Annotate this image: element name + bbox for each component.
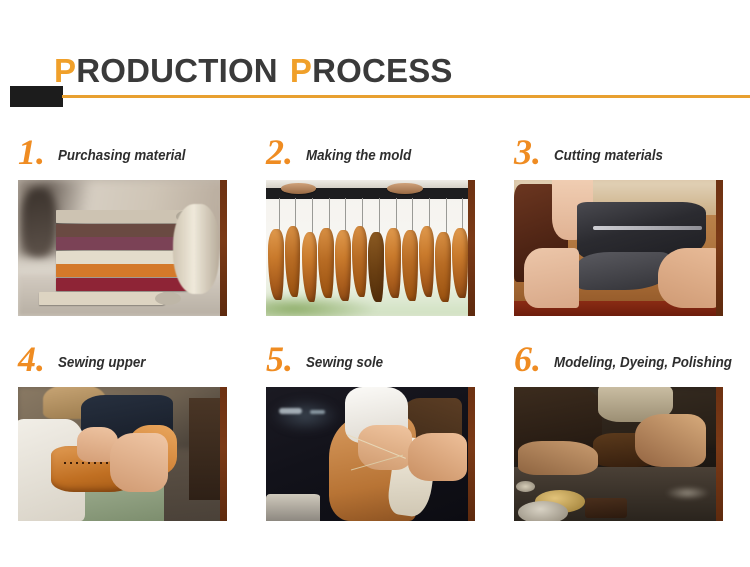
photo-art-2 xyxy=(266,180,475,316)
photo-art-1 xyxy=(18,180,227,316)
step-header-6: 6. Modeling, Dyeing, Polishing xyxy=(514,345,746,387)
photo-edge-6 xyxy=(716,387,723,521)
production-steps-grid: 1. Purchasing material 2. Making the mol… xyxy=(0,0,750,567)
step-number-2: 2. xyxy=(266,134,293,170)
step-label-1: Purchasing material xyxy=(58,148,186,164)
step-header-5: 5. Sewing sole xyxy=(266,345,498,387)
photo-edge-5 xyxy=(468,387,475,521)
photo-edge-4 xyxy=(220,387,227,521)
step-number-4: 4. xyxy=(18,341,45,377)
step-label-6: Modeling, Dyeing, Polishing xyxy=(554,355,732,371)
photo-art-5 xyxy=(266,387,475,521)
step-card-4: 4. Sewing upper xyxy=(18,345,250,521)
hand-stitching-sole-photo xyxy=(266,387,475,521)
step-label-2: Making the mold xyxy=(306,148,411,164)
hands-sewing-leather-upper-photo xyxy=(18,387,227,521)
photo-art-3 xyxy=(514,180,723,316)
step-label-5: Sewing sole xyxy=(306,355,383,371)
cutting-leather-on-table-photo xyxy=(514,180,723,316)
step-header-4: 4. Sewing upper xyxy=(18,345,250,387)
step-number-6: 6. xyxy=(514,341,541,377)
photo-art-6 xyxy=(514,387,723,521)
step-card-1: 1. Purchasing material xyxy=(18,138,250,316)
hanging-wooden-shoe-lasts-photo xyxy=(266,180,475,316)
photo-art-4 xyxy=(18,387,227,521)
step-number-3: 3. xyxy=(514,134,541,170)
step-card-6: 6. Modeling, Dyeing, Polishing xyxy=(514,345,746,521)
step-header-3: 3. Cutting materials xyxy=(514,138,746,180)
photo-edge-1 xyxy=(220,180,227,316)
step-card-2: 2. Making the mold xyxy=(266,138,498,316)
stacked-leather-hides-photo xyxy=(18,180,227,316)
polishing-shoe-workbench-photo xyxy=(514,387,723,521)
step-card-5: 5. Sewing sole xyxy=(266,345,498,521)
step-number-5: 5. xyxy=(266,341,293,377)
photo-edge-2 xyxy=(468,180,475,316)
step-card-3: 3. Cutting materials xyxy=(514,138,746,316)
step-number-1: 1. xyxy=(18,134,45,170)
photo-edge-3 xyxy=(716,180,723,316)
step-header-2: 2. Making the mold xyxy=(266,138,498,180)
step-label-4: Sewing upper xyxy=(58,355,145,371)
step-label-3: Cutting materials xyxy=(554,148,663,164)
step-header-1: 1. Purchasing material xyxy=(18,138,250,180)
